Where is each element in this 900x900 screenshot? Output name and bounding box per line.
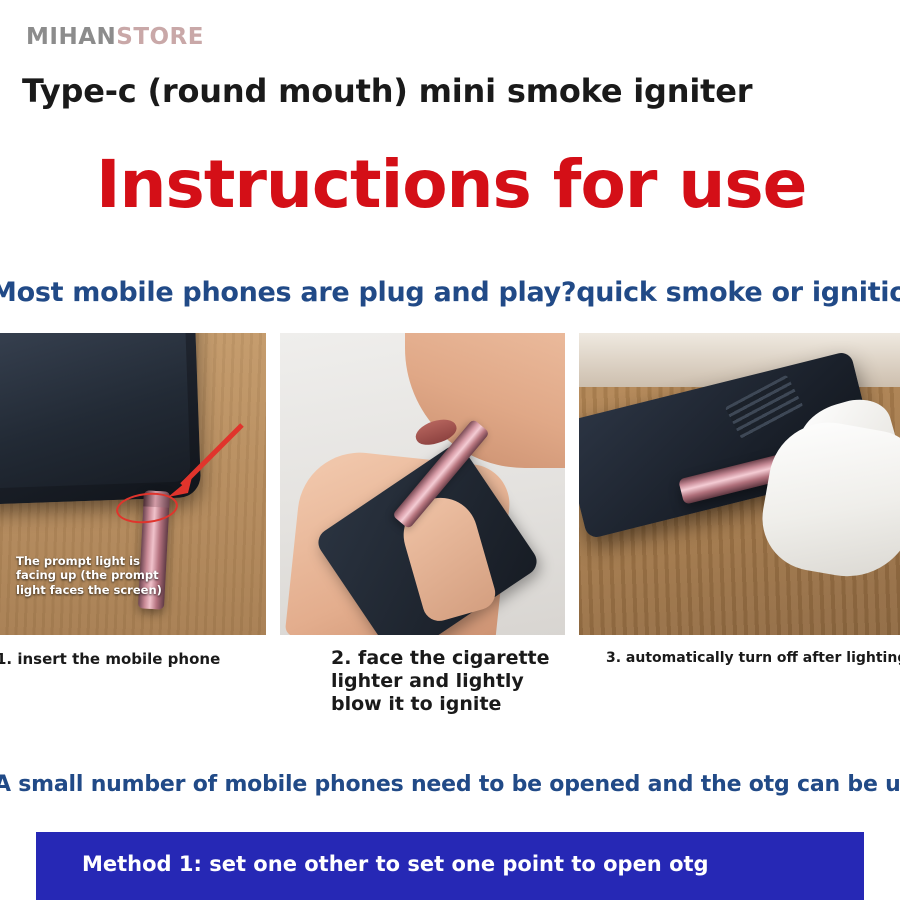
phone-speaker-grill xyxy=(725,375,804,440)
step-1-caption: 1. insert the mobile phone xyxy=(0,650,220,668)
product-title: Type-c (round mouth) mini smoke igniter xyxy=(22,72,752,110)
method-1-banner: Method 1: set one other to set one point… xyxy=(36,832,864,900)
photo-overlay-caption: The prompt light is facing up (the promp… xyxy=(16,554,166,597)
red-arrow-icon xyxy=(158,421,246,503)
instruction-page: MIHANSTORE Type-c (round mouth) mini smo… xyxy=(0,0,900,900)
method-1-label: Method 1: set one other to set one point… xyxy=(82,852,709,876)
page-title: Instructions for use xyxy=(96,152,806,218)
brand-logo: MIHANSTORE xyxy=(26,24,204,50)
step-3-caption: 3. automatically turn off after lighting xyxy=(606,650,900,667)
blow-to-ignite-photo xyxy=(280,333,565,635)
photo-strip: The prompt light is facing up (the promp… xyxy=(0,333,900,635)
step-2-caption: 2. face the cigarette lighter and lightl… xyxy=(331,647,557,717)
otg-note: A small number of mobile phones need to … xyxy=(0,772,900,797)
auto-turn-off-photo xyxy=(579,333,900,635)
subheading: Most mobile phones are plug and play?qui… xyxy=(0,277,900,308)
brand-part-one: MIHAN xyxy=(26,24,116,50)
insert-phone-photo: The prompt light is facing up (the promp… xyxy=(0,333,266,635)
brand-part-two: STORE xyxy=(116,24,204,50)
